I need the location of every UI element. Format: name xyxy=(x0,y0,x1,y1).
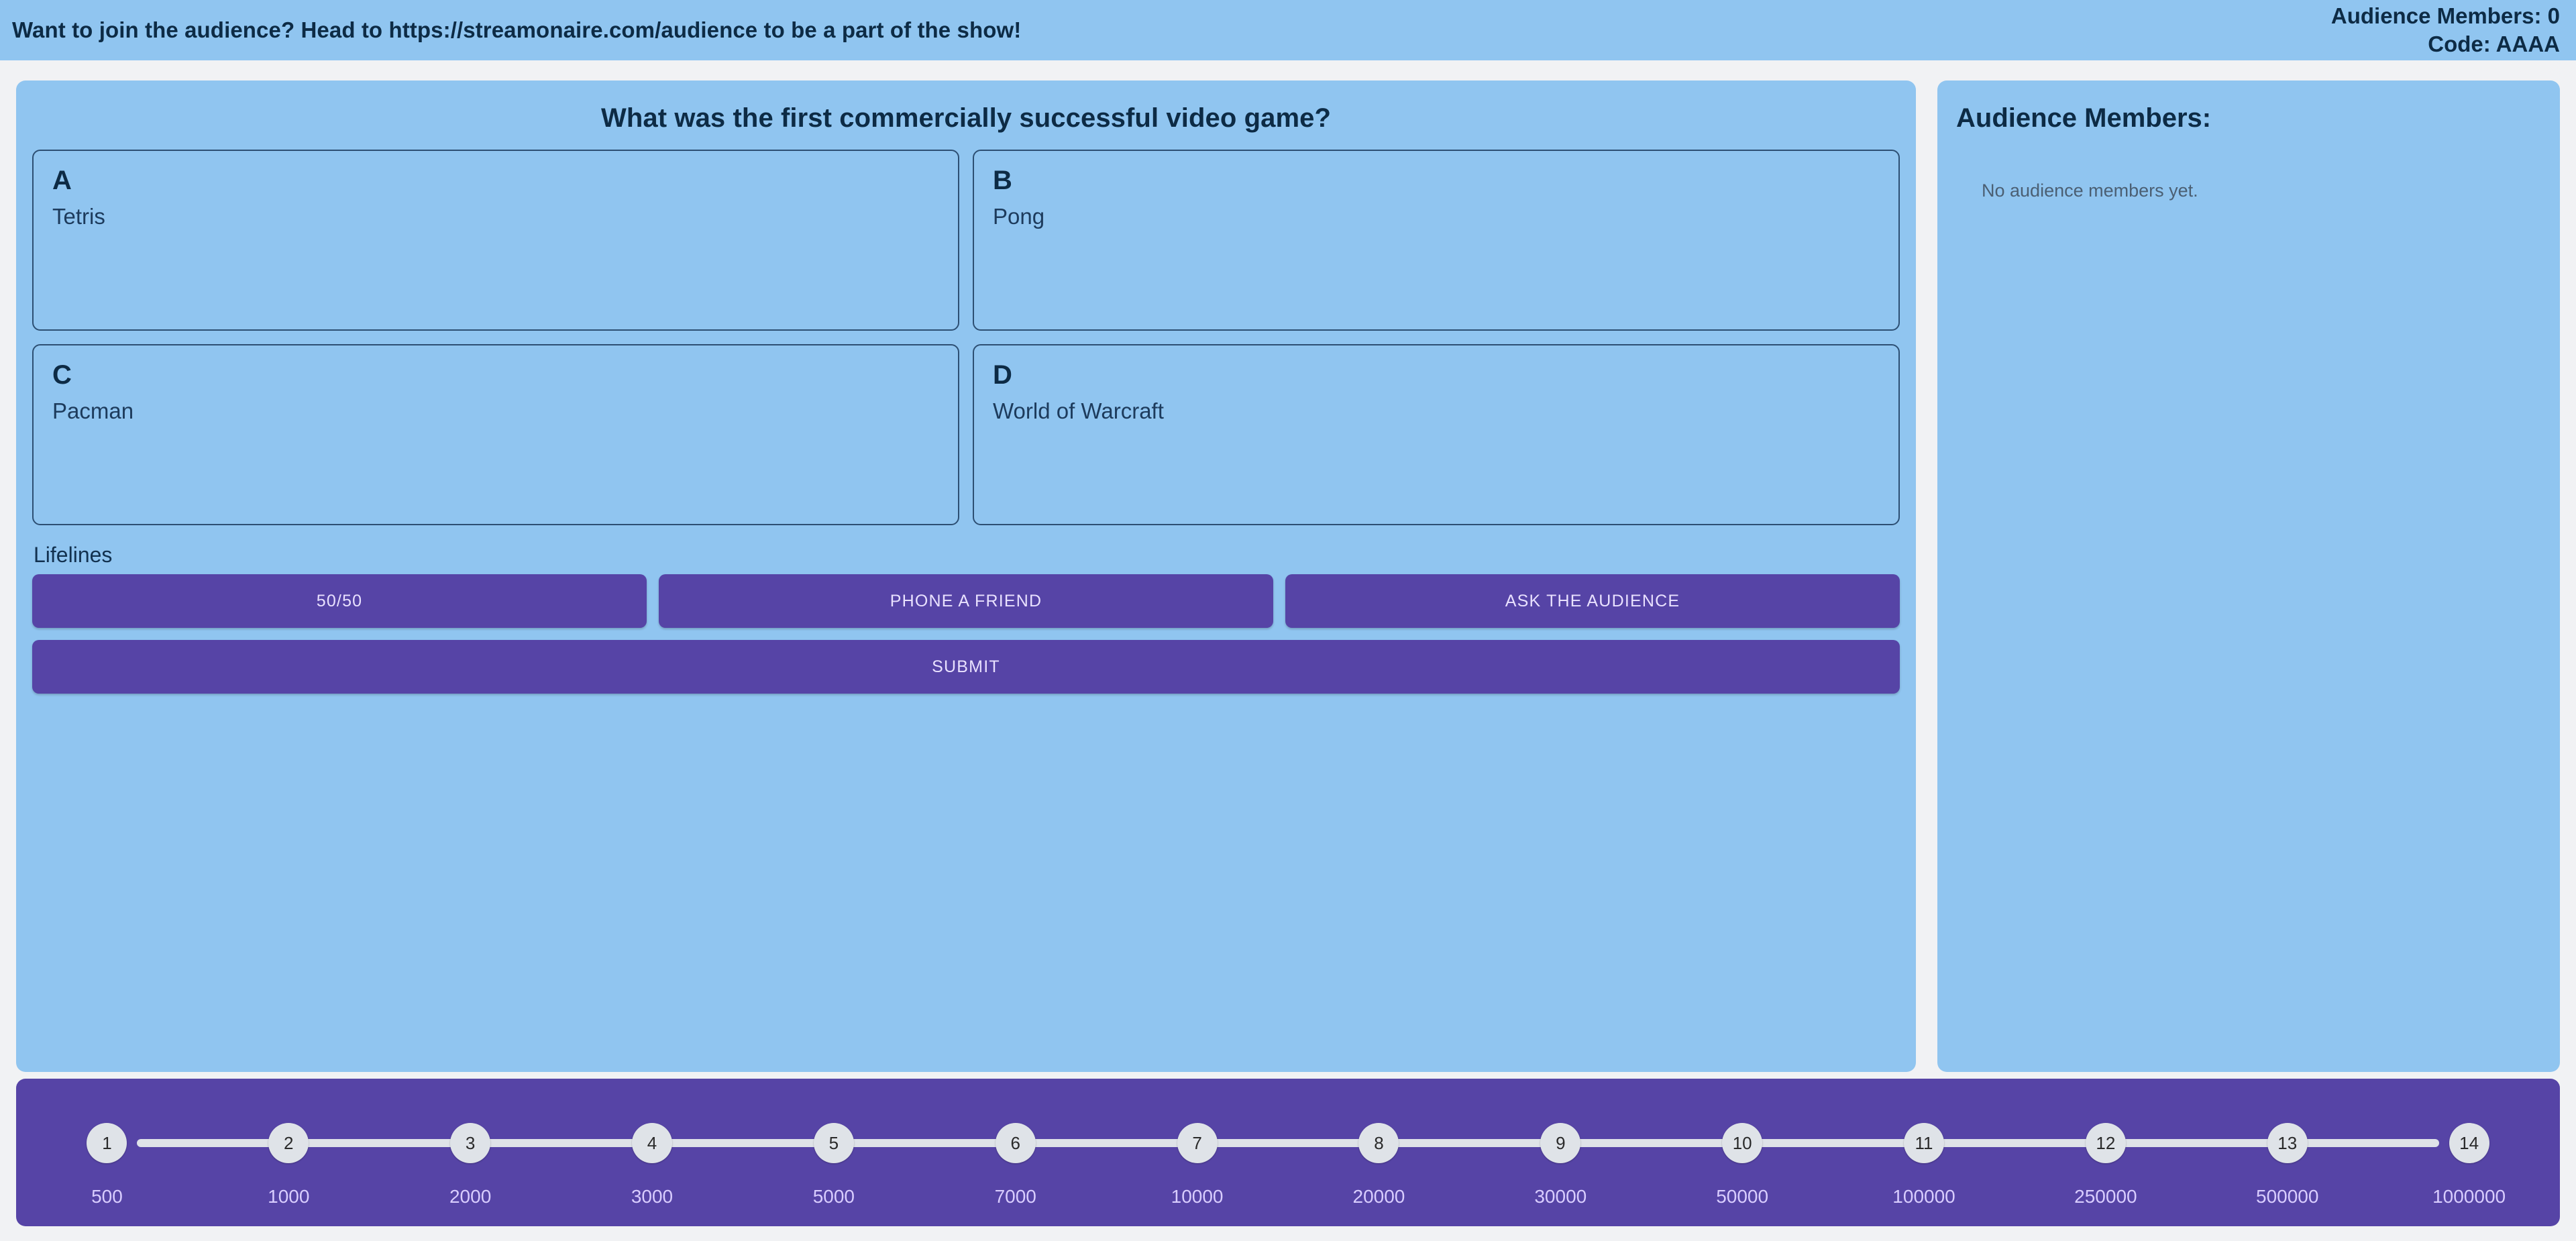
lifeline-fifty-fifty-button[interactable]: 50/50 xyxy=(32,574,647,628)
answer-option-b[interactable]: B Pong xyxy=(973,150,1900,331)
ladder-step[interactable]: 12 250000 xyxy=(2015,1079,2196,1226)
ladder-step-value: 500000 xyxy=(2256,1186,2318,1207)
top-banner: Want to join the audience? Head to https… xyxy=(0,0,2576,60)
ladder-step-number: 14 xyxy=(2449,1123,2489,1163)
ladder-step[interactable]: 2 1000 xyxy=(198,1079,380,1226)
ladder-step-value: 50000 xyxy=(1716,1186,1768,1207)
answer-text-c: Pacman xyxy=(52,398,939,425)
ladder-step-value: 2000 xyxy=(449,1186,491,1207)
answer-letter-c: C xyxy=(52,360,939,390)
lifelines-label: Lifelines xyxy=(34,543,1900,568)
money-ladder: 1 500 2 1000 3 2000 4 3000 5 5000 6 7000 xyxy=(16,1079,2560,1226)
answer-option-d[interactable]: D World of Warcraft xyxy=(973,344,1900,525)
answer-text-b: Pong xyxy=(993,203,1880,230)
ladder-step-number: 1 xyxy=(87,1123,127,1163)
ladder-step[interactable]: 3 2000 xyxy=(380,1079,561,1226)
lifelines-row: 50/50 PHONE A FRIEND ASK THE AUDIENCE xyxy=(32,574,1900,628)
answer-text-d: World of Warcraft xyxy=(993,398,1880,425)
ladder-step-value: 20000 xyxy=(1353,1186,1405,1207)
ladder-step-value: 1000000 xyxy=(2432,1186,2506,1207)
ladder-step-number: 3 xyxy=(450,1123,490,1163)
ladder-step-number: 11 xyxy=(1904,1123,1944,1163)
audience-panel: Audience Members: No audience members ye… xyxy=(1937,80,2560,1072)
audience-invite-text: Want to join the audience? Head to https… xyxy=(12,17,1021,43)
ladder-step-number: 8 xyxy=(1358,1123,1399,1163)
submit-button[interactable]: SUBMIT xyxy=(32,640,1900,694)
ladder-step[interactable]: 6 7000 xyxy=(924,1079,1106,1226)
ladder-step-value: 10000 xyxy=(1171,1186,1224,1207)
ladder-step[interactable]: 9 30000 xyxy=(1470,1079,1652,1226)
answer-text-a: Tetris xyxy=(52,203,939,230)
audience-empty-message: No audience members yet. xyxy=(1982,180,2541,201)
audience-status: Audience Members: 0 Code: AAAA xyxy=(2331,2,2560,58)
ladder-step-value: 1000 xyxy=(268,1186,309,1207)
lifeline-phone-a-friend-button[interactable]: PHONE A FRIEND xyxy=(659,574,1273,628)
ladder-step[interactable]: 7 10000 xyxy=(1106,1079,1288,1226)
ladder-step[interactable]: 4 3000 xyxy=(561,1079,743,1226)
audience-panel-title: Audience Members: xyxy=(1956,103,2541,133)
ladder-step-number: 6 xyxy=(996,1123,1036,1163)
ladder-step-number: 7 xyxy=(1177,1123,1218,1163)
ladder-step-value: 500 xyxy=(91,1186,123,1207)
ladder-step[interactable]: 13 500000 xyxy=(2196,1079,2378,1226)
ladder-step-value: 30000 xyxy=(1534,1186,1587,1207)
ladder-step[interactable]: 8 20000 xyxy=(1288,1079,1470,1226)
ladder-step-value: 5000 xyxy=(813,1186,855,1207)
ladder-step-value: 3000 xyxy=(631,1186,673,1207)
submit-row: SUBMIT xyxy=(32,640,1900,694)
answer-letter-d: D xyxy=(993,360,1880,390)
room-code: Code: AAAA xyxy=(2331,30,2560,58)
ladder-step-number: 2 xyxy=(268,1123,309,1163)
main-stage: What was the first commercially successf… xyxy=(0,60,2576,1067)
game-panel: What was the first commercially successf… xyxy=(16,80,1916,1072)
ladder-step-number: 5 xyxy=(814,1123,854,1163)
ladder-step[interactable]: 5 5000 xyxy=(743,1079,924,1226)
ladder-step-value: 7000 xyxy=(995,1186,1036,1207)
answer-letter-b: B xyxy=(993,166,1880,195)
ladder-step[interactable]: 11 100000 xyxy=(1833,1079,2015,1226)
ladder-step-number: 9 xyxy=(1540,1123,1580,1163)
lifeline-ask-the-audience-button[interactable]: ASK THE AUDIENCE xyxy=(1285,574,1900,628)
ladder-step-value: 100000 xyxy=(1892,1186,1955,1207)
ladder-step-number: 10 xyxy=(1722,1123,1762,1163)
answer-option-c[interactable]: C Pacman xyxy=(32,344,959,525)
money-ladder-steps: 1 500 2 1000 3 2000 4 3000 5 5000 6 7000 xyxy=(16,1079,2560,1226)
ladder-step-number: 12 xyxy=(2086,1123,2126,1163)
ladder-step-value: 250000 xyxy=(2074,1186,2137,1207)
ladder-step-number: 13 xyxy=(2267,1123,2308,1163)
money-ladder-inner: 1 500 2 1000 3 2000 4 3000 5 5000 6 7000 xyxy=(16,1079,2560,1226)
answer-letter-a: A xyxy=(52,166,939,195)
question-title: What was the first commercially successf… xyxy=(32,103,1900,133)
ladder-step-number: 4 xyxy=(632,1123,672,1163)
audience-member-count: Audience Members: 0 xyxy=(2331,2,2560,30)
answers-grid: A Tetris B Pong C Pacman D World of Warc… xyxy=(32,150,1900,525)
ladder-step[interactable]: 1 500 xyxy=(16,1079,198,1226)
answer-option-a[interactable]: A Tetris xyxy=(32,150,959,331)
ladder-step[interactable]: 10 50000 xyxy=(1652,1079,1833,1226)
ladder-step[interactable]: 14 1000000 xyxy=(2378,1079,2560,1226)
